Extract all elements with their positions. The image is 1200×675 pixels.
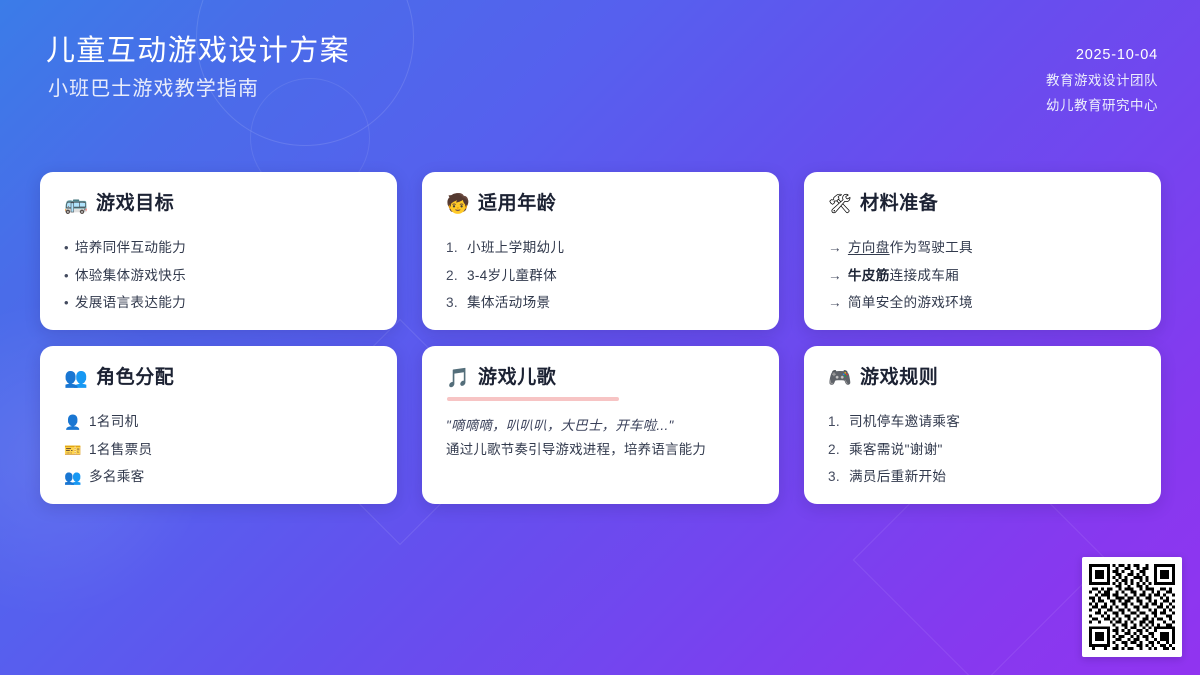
gamepad-icon: 🎮 (828, 369, 851, 388)
card-header: 👥 角色分配 (64, 368, 375, 389)
card-header: 🎮 游戏规则 (828, 368, 1139, 389)
card-role-assignment: 👥 角色分配 👤 1名司机 🎫 1名售票员 👥 多名乘客 (40, 346, 397, 504)
list-item: 3. 满员后重新开始 (828, 464, 1139, 491)
list-item-rest: 作为驾驶工具 (890, 240, 973, 255)
list-item-text: 1名司机 (89, 413, 139, 431)
card-header: 🛠 材料准备 (828, 194, 1139, 215)
ticket-icon: 🎫 (64, 441, 83, 459)
list-item-text: 满员后重新开始 (849, 468, 946, 486)
header-meta-block: 2025-10-04 教育游戏设计团队 幼儿教育研究中心 (1046, 34, 1158, 115)
card-title: 游戏目标 (96, 194, 174, 215)
people-icon: 👥 (64, 369, 87, 388)
card-header: 🎵 游戏儿歌 (446, 368, 757, 389)
arrow-marker: → (828, 294, 842, 312)
bullet-marker: • (64, 267, 69, 285)
card-title: 角色分配 (96, 368, 174, 389)
list-item-text: 3-4岁儿童群体 (467, 267, 557, 285)
bullet-marker: • (64, 294, 69, 312)
music-icon: 🎵 (446, 369, 469, 388)
arrow-marker: → (828, 239, 842, 257)
list-item: 3. 集体活动场景 (446, 290, 757, 317)
card-title: 游戏儿歌 (478, 368, 556, 389)
header-organization: 教育游戏设计团队 (1046, 71, 1158, 91)
card-title: 材料准备 (860, 194, 938, 215)
list-item-text: 集体活动场景 (467, 294, 550, 312)
card-title: 游戏规则 (860, 368, 938, 389)
list-item: → 简单安全的游戏环境 (828, 290, 1139, 317)
list-item: 2. 乘客需说"谢谢" (828, 436, 1139, 463)
number-marker: 3. (828, 468, 843, 486)
bus-icon: 🚌 (64, 195, 87, 214)
card-body: 1. 小班上学期幼儿 2. 3-4岁儿童群体 3. 集体活动场景 (446, 235, 757, 317)
arrow-marker: → (828, 267, 842, 285)
list-item-text: 培养同伴互动能力 (75, 239, 186, 257)
number-marker: 3. (446, 294, 461, 312)
list-item: • 培养同伴互动能力 (64, 235, 375, 262)
emphasis-bold: 牛皮筋 (848, 268, 890, 283)
card-header: 🚌 游戏目标 (64, 194, 375, 215)
list-item-text: 多名乘客 (89, 468, 145, 486)
card-target-age: 🧒 适用年龄 1. 小班上学期幼儿 2. 3-4岁儿童群体 3. 集体活动场景 (422, 172, 779, 330)
list-item: 2. 3-4岁儿童群体 (446, 262, 757, 289)
number-marker: 2. (446, 267, 461, 285)
slide-header: 儿童互动游戏设计方案 小班巴士游戏教学指南 2025-10-04 教育游戏设计团… (0, 0, 1200, 140)
list-item-text: 牛皮筋连接成车厢 (848, 267, 959, 285)
card-accent-rule (447, 397, 619, 401)
child-icon: 🧒 (446, 195, 469, 214)
list-item-rest: 连接成车厢 (890, 268, 959, 283)
group-icon: 👥 (64, 468, 83, 486)
card-grid: 🚌 游戏目标 • 培养同伴互动能力 • 体验集体游戏快乐 • 发展语言表达能力 (40, 172, 1164, 504)
card-game-rules: 🎮 游戏规则 1. 司机停车邀请乘客 2. 乘客需说"谢谢" 3. 满员后重新开… (804, 346, 1161, 504)
card-body: "嘀嘀嘀，叭叭叭，大巴士，开车啦..." 通过儿歌节奏引导游戏进程，培养语言能力 (446, 413, 757, 463)
list-item: • 体验集体游戏快乐 (64, 262, 375, 289)
list-item-text: 体验集体游戏快乐 (75, 267, 186, 285)
list-item-text: 1名售票员 (89, 441, 152, 459)
qr-code-image (1089, 564, 1175, 650)
header-center: 幼儿教育研究中心 (1046, 96, 1158, 116)
list-item: • 发展语言表达能力 (64, 290, 375, 317)
card-game-song: 🎵 游戏儿歌 "嘀嘀嘀，叭叭叭，大巴士，开车啦..." 通过儿歌节奏引导游戏进程… (422, 346, 779, 504)
list-item-text: 简单安全的游戏环境 (848, 294, 973, 312)
bullet-marker: • (64, 239, 69, 257)
list-item: 🎫 1名售票员 (64, 436, 375, 463)
list-item-text: 小班上学期幼儿 (467, 239, 564, 257)
list-item-text: 司机停车邀请乘客 (849, 413, 960, 431)
number-marker: 1. (828, 413, 843, 431)
number-marker: 2. (828, 441, 843, 459)
slide-root: 儿童互动游戏设计方案 小班巴士游戏教学指南 2025-10-04 教育游戏设计团… (0, 0, 1200, 675)
song-description: 通过儿歌节奏引导游戏进程，培养语言能力 (446, 437, 757, 463)
card-body: • 培养同伴互动能力 • 体验集体游戏快乐 • 发展语言表达能力 (64, 235, 375, 317)
list-item: 1. 司机停车邀请乘客 (828, 409, 1139, 436)
card-title: 适用年龄 (478, 194, 556, 215)
card-game-goals: 🚌 游戏目标 • 培养同伴互动能力 • 体验集体游戏快乐 • 发展语言表达能力 (40, 172, 397, 330)
list-item: 👥 多名乘客 (64, 464, 375, 491)
tools-icon: 🛠 (828, 195, 851, 214)
list-item: → 牛皮筋连接成车厢 (828, 262, 1139, 289)
emphasis-underline: 方向盘 (848, 240, 890, 255)
qr-code[interactable] (1082, 557, 1182, 657)
card-body: 👤 1名司机 🎫 1名售票员 👥 多名乘客 (64, 409, 375, 491)
card-body: → 方向盘作为驾驶工具 → 牛皮筋连接成车厢 → 简单安全的游戏环境 (828, 235, 1139, 317)
page-subtitle: 小班巴士游戏教学指南 (46, 77, 350, 102)
number-marker: 1. (446, 239, 461, 257)
header-date: 2025-10-04 (1076, 45, 1158, 66)
list-item-text: 方向盘作为驾驶工具 (848, 239, 973, 257)
list-item-text: 发展语言表达能力 (75, 294, 186, 312)
list-item: → 方向盘作为驾驶工具 (828, 235, 1139, 262)
card-header: 🧒 适用年龄 (446, 194, 757, 215)
page-title: 儿童互动游戏设计方案 (46, 34, 350, 69)
list-item-text: 乘客需说"谢谢" (849, 441, 943, 459)
person-icon: 👤 (64, 413, 83, 431)
header-left-block: 儿童互动游戏设计方案 小班巴士游戏教学指南 (46, 34, 350, 102)
song-lyric-quote: "嘀嘀嘀，叭叭叭，大巴士，开车啦..." (446, 413, 757, 437)
list-item: 1. 小班上学期幼儿 (446, 235, 757, 262)
card-body: 1. 司机停车邀请乘客 2. 乘客需说"谢谢" 3. 满员后重新开始 (828, 409, 1139, 491)
list-item: 👤 1名司机 (64, 409, 375, 436)
card-materials: 🛠 材料准备 → 方向盘作为驾驶工具 → 牛皮筋连接成车厢 → 简单安全的游戏环… (804, 172, 1161, 330)
